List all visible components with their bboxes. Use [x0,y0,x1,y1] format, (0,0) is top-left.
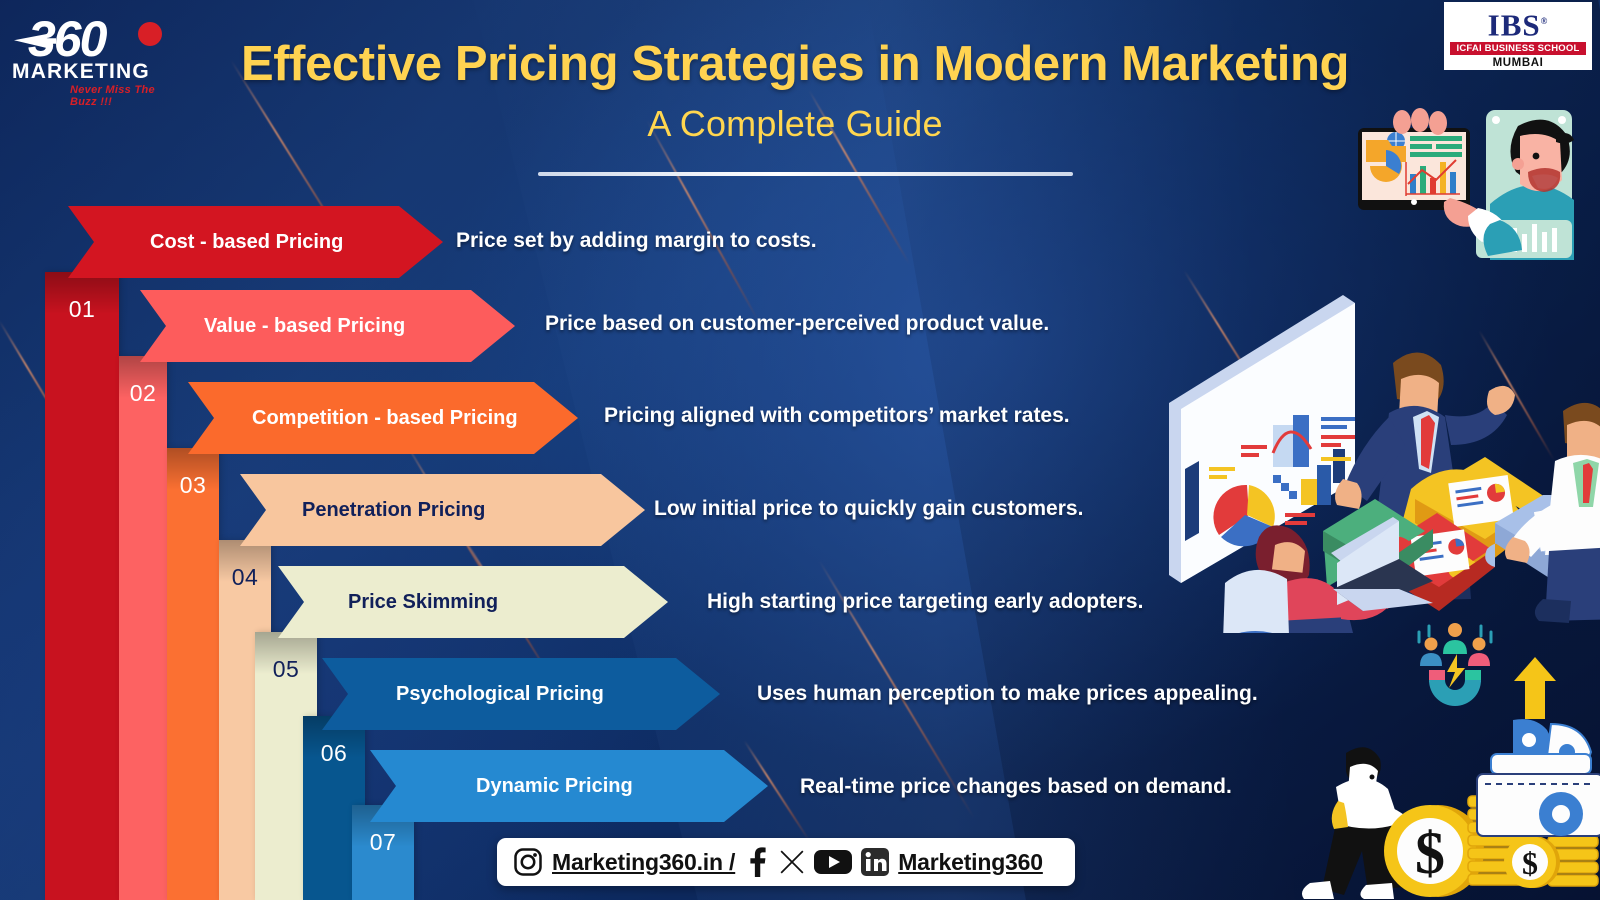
strategy-number: 02 [119,380,167,407]
svg-text:$: $ [1522,845,1538,881]
instagram-handle[interactable]: Marketing360.in / [552,849,735,876]
strategy-description-04: Low initial price to quickly gain custom… [654,497,1083,521]
strategy-label: Value - based Pricing [204,315,405,338]
strategy-arrow-05[interactable]: Price Skimming [278,566,668,638]
registered-mark-icon: ® [1541,16,1549,26]
team-meeting-illustration [1165,283,1600,633]
strategy-number: 07 [352,829,414,856]
youtube-icon[interactable] [814,848,852,876]
strategy-label: Penetration Pricing [302,499,485,522]
ibs-full-name: ICFAI BUSINESS SCHOOL [1450,42,1586,55]
strategy-number: 06 [303,740,365,767]
social-footer-bar: Marketing360.in / Marketing360 [497,838,1075,886]
linkedin-handle[interactable]: Marketing360 [898,849,1043,876]
strategy-arrow-06[interactable]: Psychological Pricing [322,658,720,730]
strategy-number: 04 [219,564,271,591]
strategy-description-05: High starting price targeting early adop… [707,590,1143,614]
pricing-strategy-staircase: 01Cost - based Pricing02Value - based Pr… [0,0,900,900]
strategy-tail-01: 01 [45,272,119,900]
strategy-description-01: Price set by adding margin to costs. [456,229,817,253]
strategy-number: 05 [255,656,317,683]
strategy-label: Dynamic Pricing [476,775,633,798]
wallet-gears-illustration [1455,718,1600,848]
x-twitter-icon[interactable] [779,849,805,875]
strategy-tail-03: 03 [167,448,219,900]
ibs-acronym-text: IBS [1488,7,1541,42]
growth-up-arrow-icon [1512,655,1558,721]
strategy-description-02: Price based on customer-perceived produc… [545,312,1049,336]
strategy-label: Psychological Pricing [396,683,604,706]
strategy-arrow-02[interactable]: Value - based Pricing [140,290,515,362]
ibs-city: MUMBAI [1450,57,1586,69]
strategy-label: Cost - based Pricing [150,231,343,254]
strategy-arrow-04[interactable]: Penetration Pricing [240,474,645,546]
instagram-icon[interactable] [513,847,543,877]
strategy-tail-02: 02 [119,356,167,900]
strategy-description-07: Real-time price changes based on demand. [800,775,1232,799]
magnet-customers-icon [1413,618,1498,708]
ibs-partner-logo[interactable]: IBS® ICFAI BUSINESS SCHOOL MUMBAI [1444,2,1592,70]
ibs-acronym: IBS® [1450,5,1586,41]
strategy-description-06: Uses human perception to make prices app… [757,682,1258,706]
strategy-number: 03 [167,472,219,499]
strategy-arrow-01[interactable]: Cost - based Pricing [68,206,443,278]
svg-text:$: $ [1415,820,1445,886]
strategy-number: 01 [45,296,119,323]
strategy-description-03: Pricing aligned with competitors’ market… [604,404,1070,428]
strategy-arrow-03[interactable]: Competition - based Pricing [188,382,578,454]
linkedin-icon[interactable] [861,848,889,876]
strategy-label: Price Skimming [348,591,498,614]
strategy-label: Competition - based Pricing [252,407,518,430]
facebook-icon[interactable] [744,847,770,877]
strategy-arrow-07[interactable]: Dynamic Pricing [370,750,768,822]
